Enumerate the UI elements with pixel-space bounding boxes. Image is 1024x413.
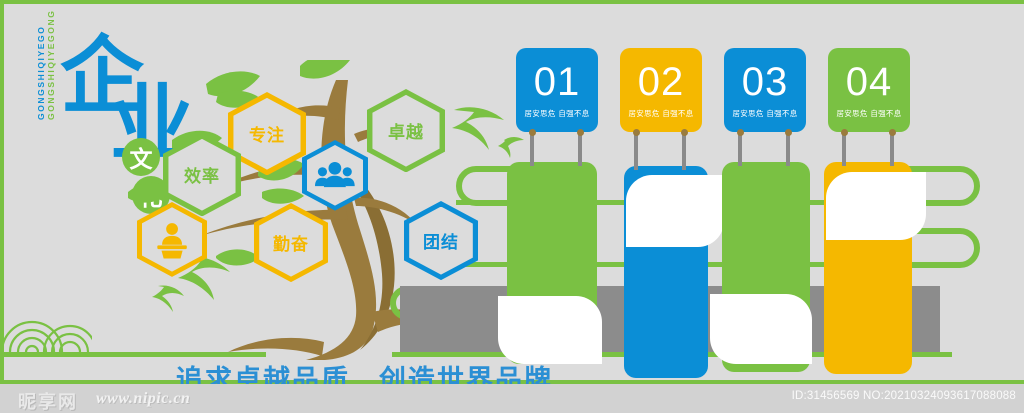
tab-03-subtitle: 居安思危 自强不息 xyxy=(732,108,797,119)
tab-04[interactable]: 04居安思危 自强不息 xyxy=(828,48,910,132)
tab-04-subtitle: 居安思危 自强不息 xyxy=(836,108,901,119)
hex-zhuanzhu-label: 专注 xyxy=(249,121,285,146)
tab-03-pin-1 xyxy=(738,132,742,166)
panel-03-photo-placeholder[interactable] xyxy=(710,294,812,364)
tab-04-pin-2 xyxy=(890,132,894,166)
tab-01[interactable]: 01居安思危 自强不息 xyxy=(516,48,598,132)
panel-01-photo-placeholder[interactable] xyxy=(498,296,602,364)
hex-zhuanzhu-inner: 专注 xyxy=(233,98,300,170)
people-icon xyxy=(315,154,355,197)
hex-tuanjie-inner: 团结 xyxy=(409,207,473,275)
tab-01-number: 01 xyxy=(534,62,581,102)
tab-03-number: 03 xyxy=(742,62,789,102)
watermark-logo: 昵享网 xyxy=(18,388,78,413)
tab-02-subtitle: 居安思危 自强不息 xyxy=(628,108,693,119)
hex-xiaolv-label: 效率 xyxy=(184,162,220,187)
tab-01-pin-2 xyxy=(578,132,582,166)
watermark-id: ID:31456569 NO:20210324093617088088 xyxy=(792,390,1016,402)
hex-tuanjie-label: 团结 xyxy=(423,228,459,253)
podium-speaker-icon xyxy=(151,217,193,262)
pinyin-line-1: GONGSHIQIYEGO xyxy=(36,10,46,120)
bird-small xyxy=(152,285,184,312)
hex-xiaolv-inner: 效率 xyxy=(168,139,235,211)
tab-04-pin-1 xyxy=(842,132,846,166)
hex-qinfen-label: 勤奋 xyxy=(273,230,309,255)
hex-qinfen-inner: 勤奋 xyxy=(259,209,323,277)
tab-02-number: 02 xyxy=(638,62,685,102)
hex-podium-inner xyxy=(142,207,202,271)
tree-root-left xyxy=(228,338,324,356)
pinyin-line-2: GONGSHIQIYEGONG xyxy=(46,10,56,120)
tab-04-number: 04 xyxy=(846,62,893,102)
panel-02-photo-placeholder[interactable] xyxy=(626,175,724,247)
watermark-url: www.nipic.cn xyxy=(96,390,190,408)
tab-03-pin-2 xyxy=(786,132,790,166)
tab-01-subtitle: 居安思危 自强不息 xyxy=(524,108,589,119)
bird-large-2 xyxy=(452,107,504,150)
wave-ornament-left xyxy=(0,258,92,354)
hex-team-icon-inner xyxy=(307,145,364,206)
hex-zhuoyue-inner: 卓越 xyxy=(372,95,439,167)
poster-canvas: 企 业 文 化 GONGSHIQIYEGO GONGSHIQIYEGONG xyxy=(0,0,1024,413)
tab-02[interactable]: 02居安思危 自强不息 xyxy=(620,48,702,132)
tab-03[interactable]: 03居安思危 自强不息 xyxy=(724,48,806,132)
brand-pinyin: GONGSHIQIYEGO GONGSHIQIYEGONG xyxy=(36,10,56,120)
top-edge-line xyxy=(0,0,1024,4)
panel-04-photo-placeholder[interactable] xyxy=(826,172,926,240)
hex-zhuoyue-label: 卓越 xyxy=(388,118,424,143)
tab-02-pin-1 xyxy=(634,132,638,170)
tab-01-pin-1 xyxy=(530,132,534,166)
bird-small-2 xyxy=(498,137,524,158)
tab-02-pin-2 xyxy=(682,132,686,170)
